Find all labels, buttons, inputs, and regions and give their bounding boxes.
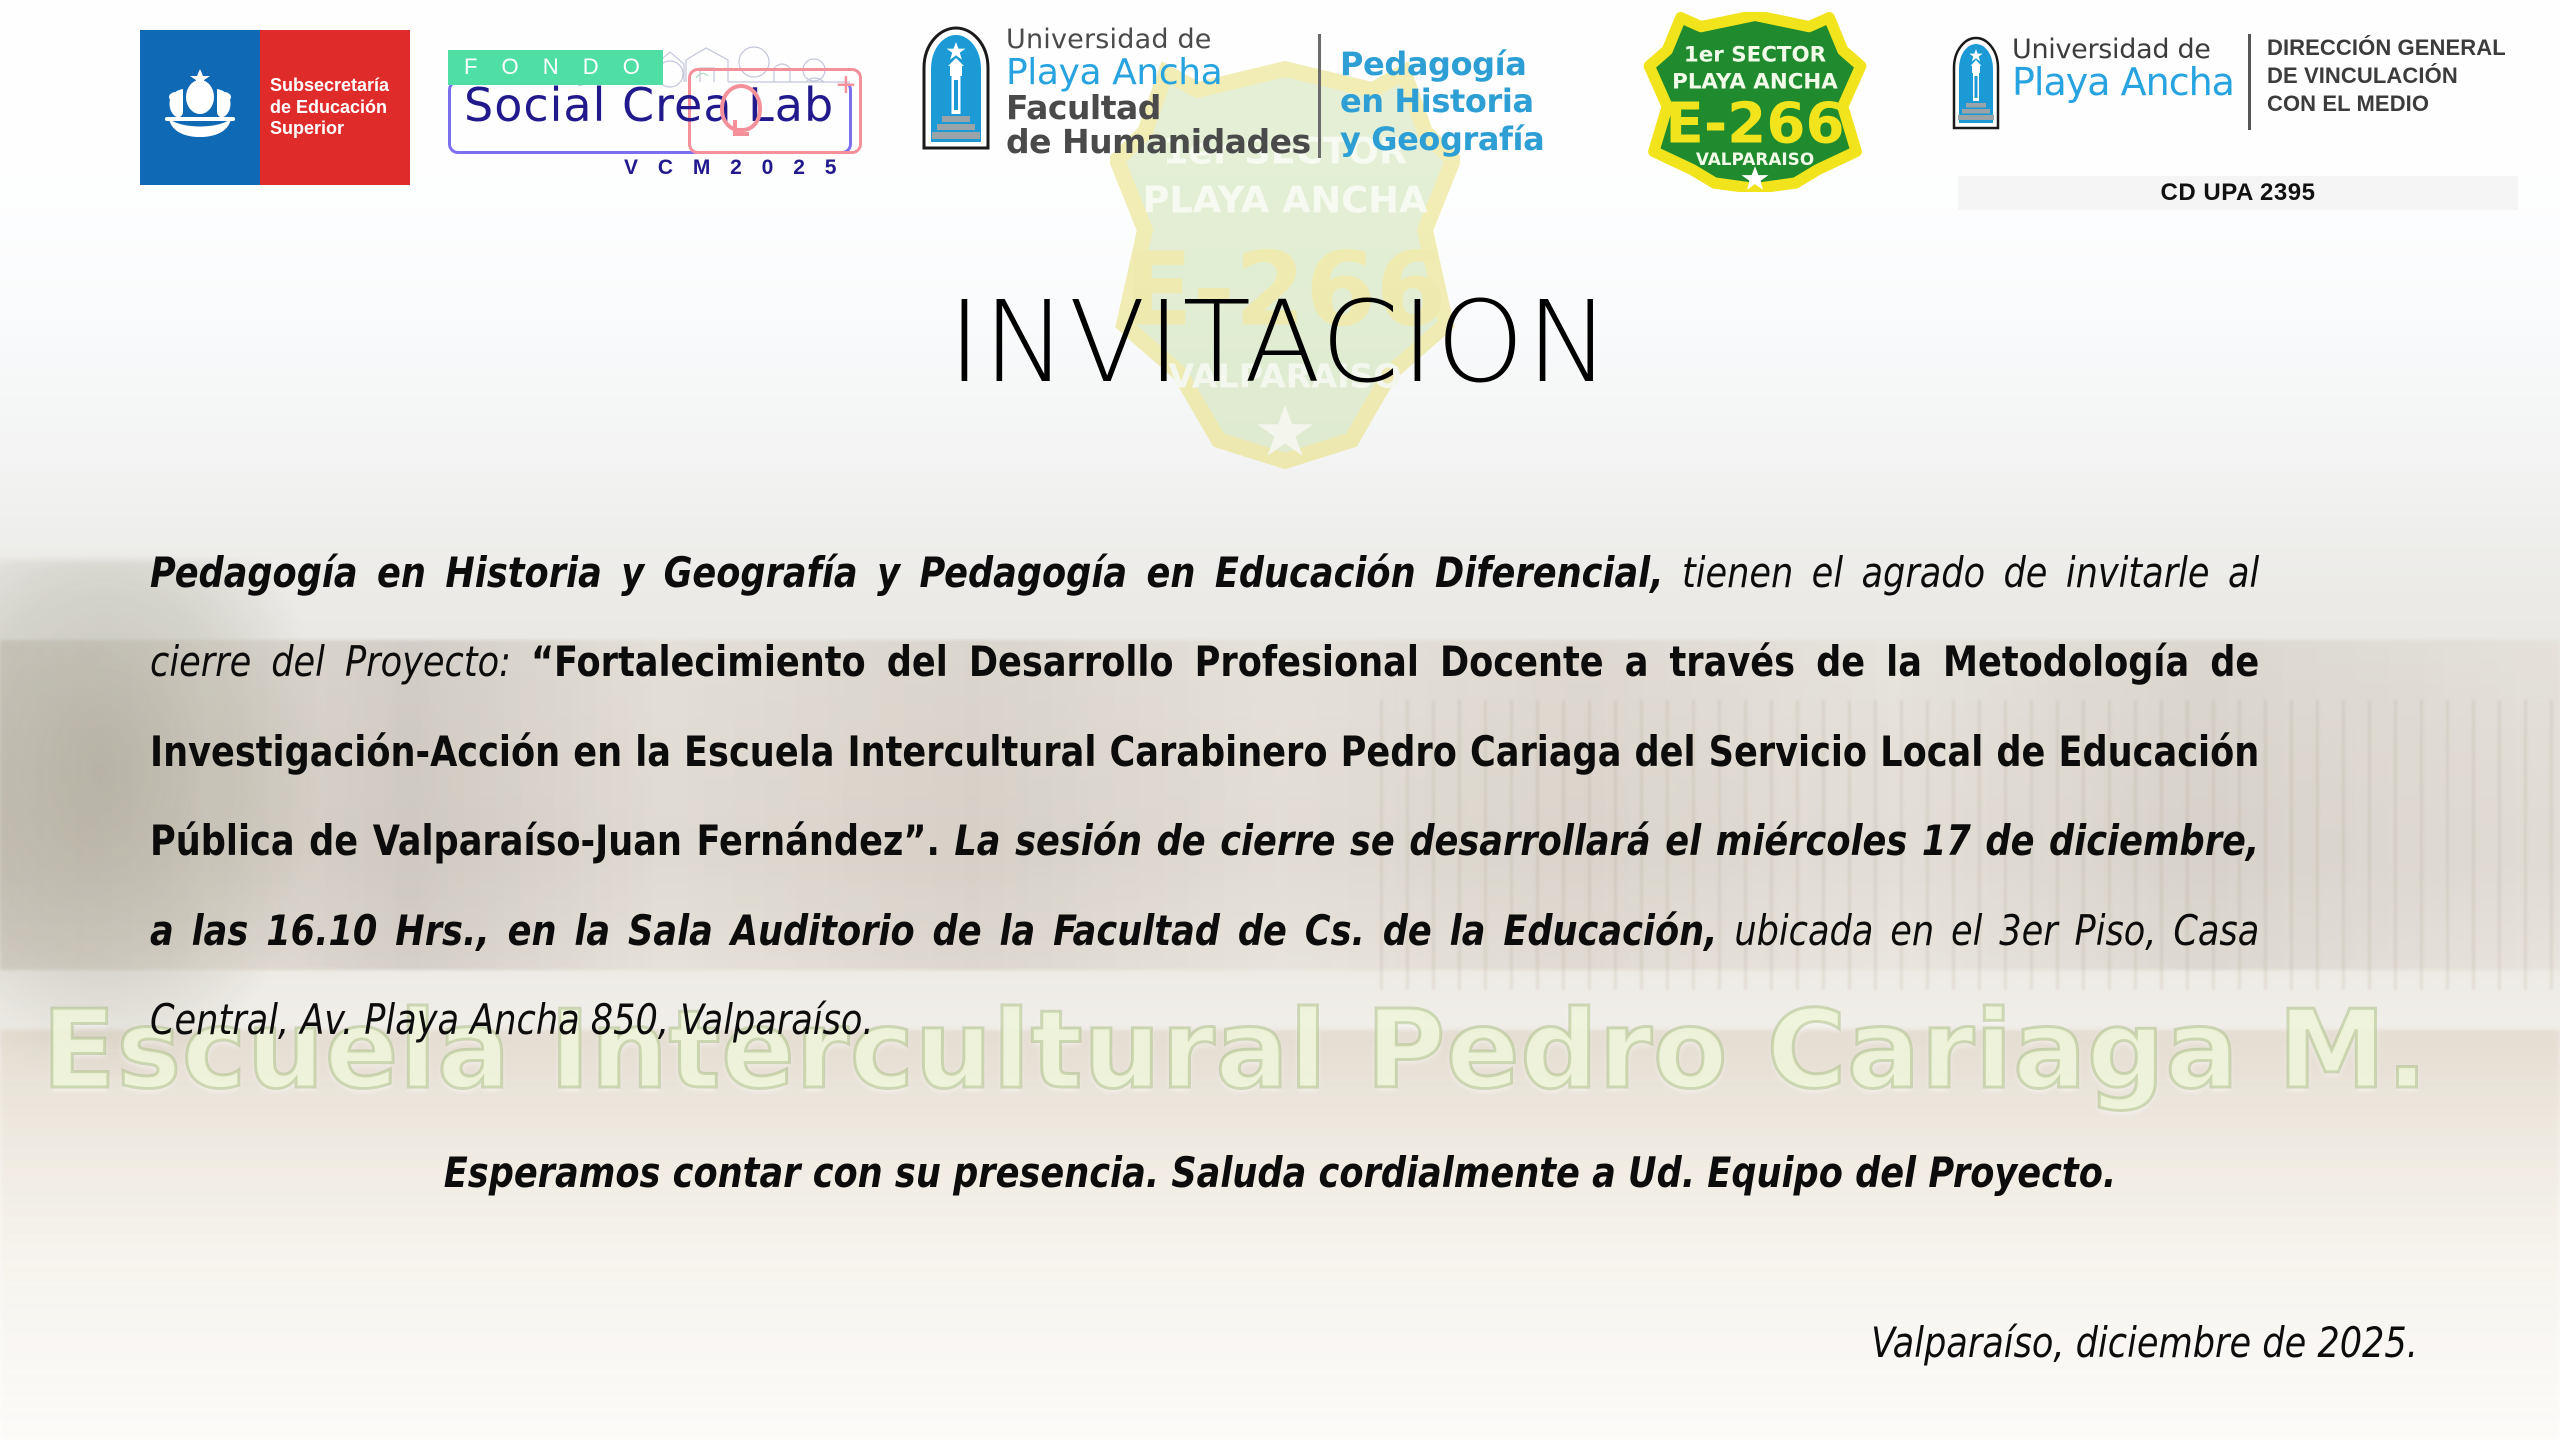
logo-upa-facultad-humanidades: Universidad de Playa Ancha Facultad de H… [918, 22, 1338, 172]
cd-upa-code-label: CD UPA 2395 [1958, 176, 2518, 210]
upa-fh-line4: de Humanidades [1006, 125, 1311, 159]
upa-lighthouse-icon [1950, 34, 2002, 132]
scl-wordmark: Social Crea Lab [464, 78, 834, 132]
gob-line3: Superior [270, 118, 389, 140]
upa-fh-line3: Facultad [1006, 91, 1311, 125]
upa-dg-right1: DIRECCIÓN GENERAL [2267, 34, 2506, 62]
logo-pedagogia-historia-geografia: Pedagogía en Historia y Geografía [1340, 46, 1544, 158]
scl-vcm-label: V C M 2 0 2 5 [624, 156, 843, 180]
background-ground [0, 1030, 2560, 1440]
upa-fh-line2: Playa Ancha [1006, 55, 1311, 92]
upa-dg-right3: CON EL MEDIO [2267, 90, 2506, 118]
svg-text:E-266: E-266 [1665, 92, 1844, 157]
phg-line3: y Geografía [1340, 121, 1544, 158]
header-divider-2 [2248, 34, 2251, 130]
page-title: INVITACION [0, 278, 2560, 408]
logo-upa-direccion-vinculacion: Universidad de Playa Ancha DIRECCIÓN GEN… [1950, 30, 2520, 150]
logo-header-bar: Subsecretaría de Educación Superior [0, 0, 2560, 215]
invitation-body: Pedagogía en Historia y Geografía y Peda… [150, 528, 2259, 1065]
phg-line1: Pedagogía [1340, 46, 1544, 83]
lightbulb-icon [720, 84, 762, 132]
upa-fh-line1: Universidad de [1006, 26, 1311, 55]
gob-line1: Subsecretaría [270, 75, 389, 97]
upa-dg-line1: Universidad de [2012, 36, 2234, 63]
logo-fondo-social-crea-lab: F O N D O Social Crea Lab + V C M 2 0 2 … [448, 28, 856, 176]
gob-red-panel: Subsecretaría de Educación Superior [260, 30, 410, 185]
upa-dg-line2: Playa Ancha [2012, 63, 2234, 101]
plus-icon: + [836, 68, 856, 102]
header-divider-1 [1318, 34, 1321, 158]
logo-subsecretaria-educacion-superior: Subsecretaría de Educación Superior [140, 30, 410, 185]
upa-dg-right2: DE VINCULACIÓN [2267, 62, 2506, 90]
gob-line2: de Educación [270, 97, 389, 119]
svg-text:VALPARAISO: VALPARAISO [1696, 149, 1814, 169]
body-bold-italic-1: Pedagogía en Historia y Geografía y Peda… [150, 548, 1664, 597]
school-shield-icon: 1er SECTOR PLAYA ANCHA E-266 VALPARAISO [1640, 12, 1870, 192]
closing-line: Esperamos contar con su presencia. Salud… [90, 1148, 2471, 1197]
svg-text:1er SECTOR: 1er SECTOR [1684, 43, 1827, 68]
gob-blue-panel [140, 30, 260, 185]
upa-lighthouse-icon [918, 22, 994, 154]
invitation-paragraph: Pedagogía en Historia y Geografía y Peda… [150, 528, 2259, 1065]
signoff-line: Valparaíso, diciembre de 2025. [1871, 1318, 2418, 1367]
phg-line2: en Historia [1340, 83, 1544, 120]
chile-coat-of-arms-icon [159, 67, 241, 141]
invitation-poster: 1er SECTOR PLAYA ANCHA E-266 VALPARAISO … [0, 0, 2560, 1440]
